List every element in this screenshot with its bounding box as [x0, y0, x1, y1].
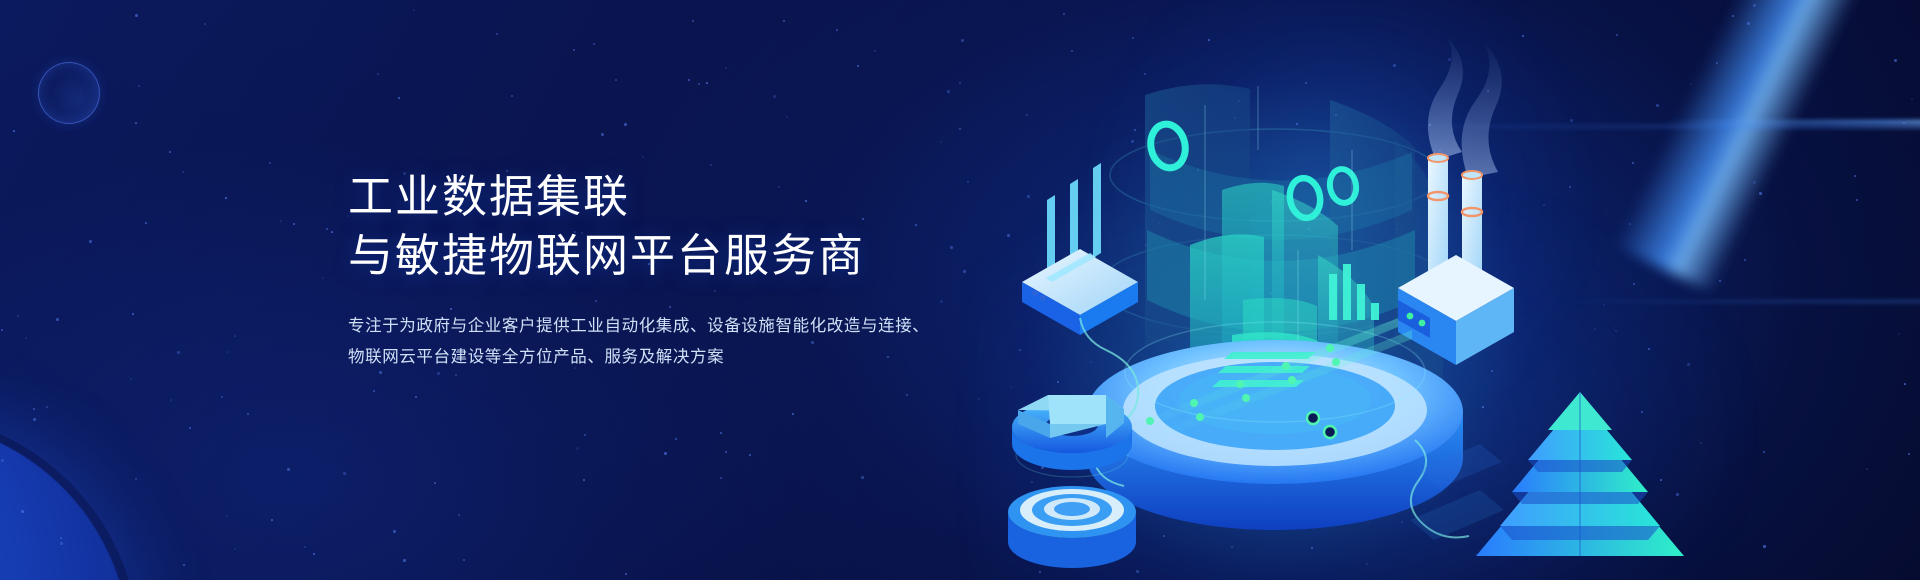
- background-haze-secondary: [980, 180, 1740, 580]
- headline-line-1: 工业数据集联: [348, 168, 1028, 227]
- hero-copy: 工业数据集联 与敏捷物联网平台服务商 专注于为政府与企业客户提供工业自动化集成、…: [348, 168, 1028, 372]
- subtitle-line-1: 专注于为政府与企业客户提供工业自动化集成、设备设施智能化改造与连接、: [348, 311, 1028, 342]
- crescent-moon-icon: [38, 62, 100, 124]
- light-streak-horizontal: [1660, 120, 1920, 124]
- headline-line-2: 与敏捷物联网平台服务商: [348, 227, 1028, 286]
- hero-banner: 工业数据集联 与敏捷物联网平台服务商 专注于为政府与企业客户提供工业自动化集成、…: [0, 0, 1920, 580]
- subtitle-line-2: 物联网云平台建设等全方位产品、服务及解决方案: [348, 342, 1028, 373]
